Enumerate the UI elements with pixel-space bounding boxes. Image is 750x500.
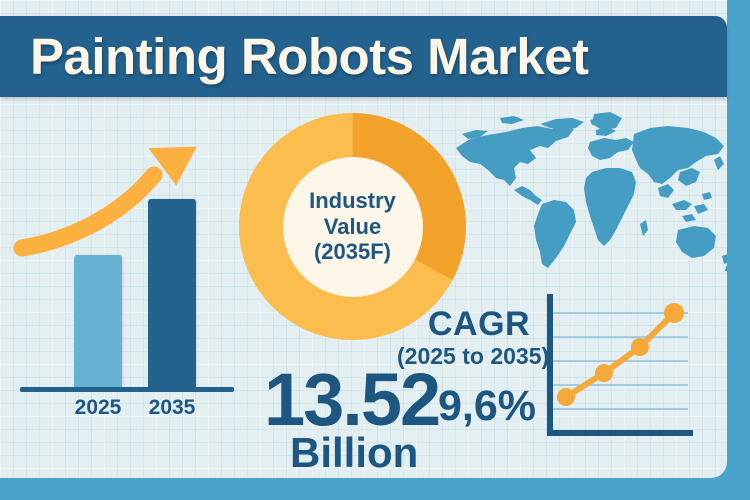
world-map-icon (444, 106, 727, 296)
donut-line-2: Value (324, 214, 381, 240)
cagr-value: 9,6% (438, 382, 536, 431)
title-banner: Painting Robots Market (0, 16, 727, 97)
line-chart (540, 285, 720, 445)
growth-arrow-icon (14, 120, 244, 420)
donut-line-1: Industry (309, 188, 396, 214)
industry-value-number: 13.52 (264, 363, 439, 437)
cagr-title: CAGR (428, 305, 530, 344)
bar-2025 (74, 255, 122, 388)
bar-2035 (148, 199, 196, 388)
bar-chart: 2025 2035 (14, 120, 244, 420)
bar-chart-axis (20, 387, 234, 392)
donut-line-3: (2035F) (314, 239, 391, 265)
bar-label-2025: 2025 (63, 396, 133, 420)
bar-label-2035: 2035 (137, 396, 207, 420)
page-title: Painting Robots Market (30, 27, 589, 86)
donut-center-label: Industry Value (2035F) (283, 157, 423, 297)
infographic-root: 2025 2035 Industry Value (2035F) CAGR (2… (0, 0, 750, 500)
industry-value-unit: Billion (290, 432, 418, 474)
